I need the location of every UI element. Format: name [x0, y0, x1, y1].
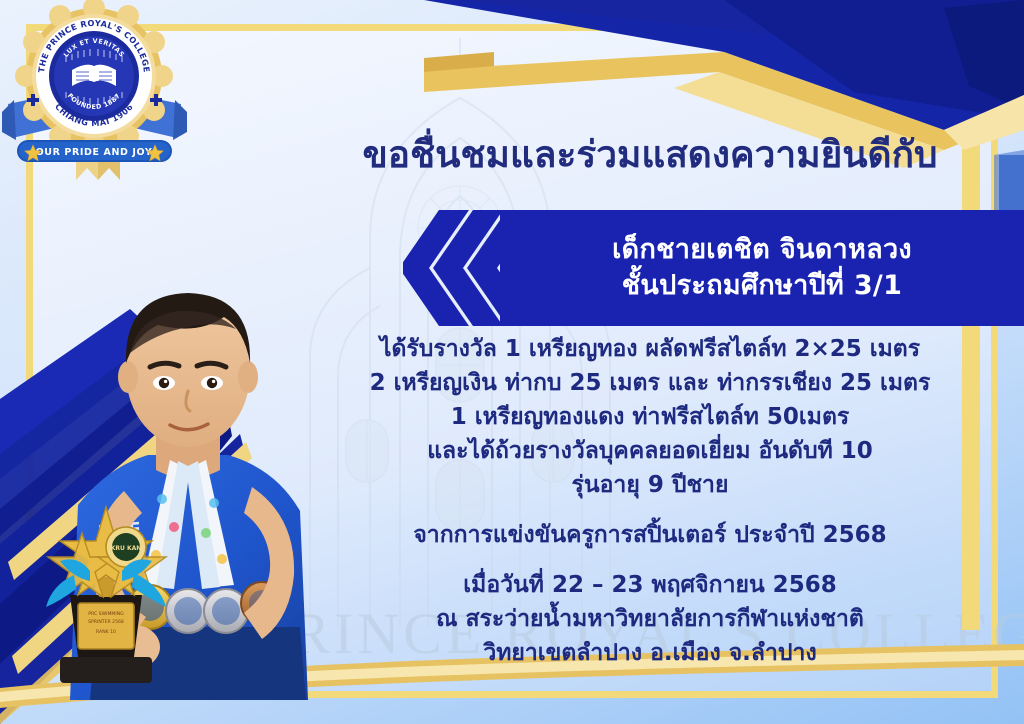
venue-line-1: ณ สระว่ายน้ำมหาวิทยาลัยการกีฬาแห่งชาติ	[340, 602, 960, 636]
award-line-1: ได้รับรางวัล 1 เหรียญทอง ผลัดฟรีสไตล์ท 2…	[340, 332, 960, 366]
seal-pride-ribbon: OUR PRIDE AND JOY	[17, 140, 172, 162]
venue-line-2: วิทยาเขตลำปาง อ.เมือง จ.ลำปาง	[340, 636, 960, 670]
svg-text:RANK 10: RANK 10	[96, 629, 116, 635]
event-date: เมื่อวันที่ 22 – 23 พฤศจิกายน 2568	[340, 568, 960, 602]
congratulations-poster: PRINCE ROYAL'S COLLEGE	[0, 0, 1024, 724]
award-line-5: รุ่นอายุ 9 ปีชาย	[340, 468, 960, 502]
chevron-left-icons	[403, 210, 523, 326]
svg-text:PRC SWIMMING: PRC SWIMMING	[88, 611, 124, 617]
award-line-2: 2 เหรียญเงิน ท่ากบ 25 เมตร และ ท่ากรรเชี…	[340, 366, 960, 400]
competition-name: จากการแข่งขันครูการสปิ้นเตอร์ ประจำปี 25…	[340, 518, 960, 552]
award-details: ได้รับรางวัล 1 เหรียญทอง ผลัดฟรีสไตล์ท 2…	[340, 332, 960, 670]
student-class-level: ชั้นประถมศึกษาปีที่ 3/1	[622, 268, 902, 304]
svg-text:SPRINTER 2568: SPRINTER 2568	[88, 619, 124, 625]
school-seal: THE PRINCE ROYAL'S COLLEGE CHIANG MAI 19…	[2, 0, 187, 180]
student-name: เด็กชายเตชิต จินดาหลวง	[612, 232, 912, 268]
student-photo: THE PRIN	[38, 255, 338, 700]
student-name-banner: เด็กชายเตชิต จินดาหลวง ชั้นประถมศึกษาปีท…	[500, 210, 1024, 326]
page-title: ขอชื่นชมและร่วมแสดงความยินดีกับ	[330, 128, 970, 182]
award-line-4: และได้ถ้วยรางวัลบุคคลยอดเยี่ยม อันดับที …	[340, 434, 960, 468]
svg-text:KRU KAN: KRU KAN	[111, 545, 142, 552]
award-line-3: 1 เหรียญทองแดง ท่าฟรีสไตล์ท 50เมตร	[340, 400, 960, 434]
seal-ribbon-text: OUR PRIDE AND JOY	[36, 147, 153, 158]
